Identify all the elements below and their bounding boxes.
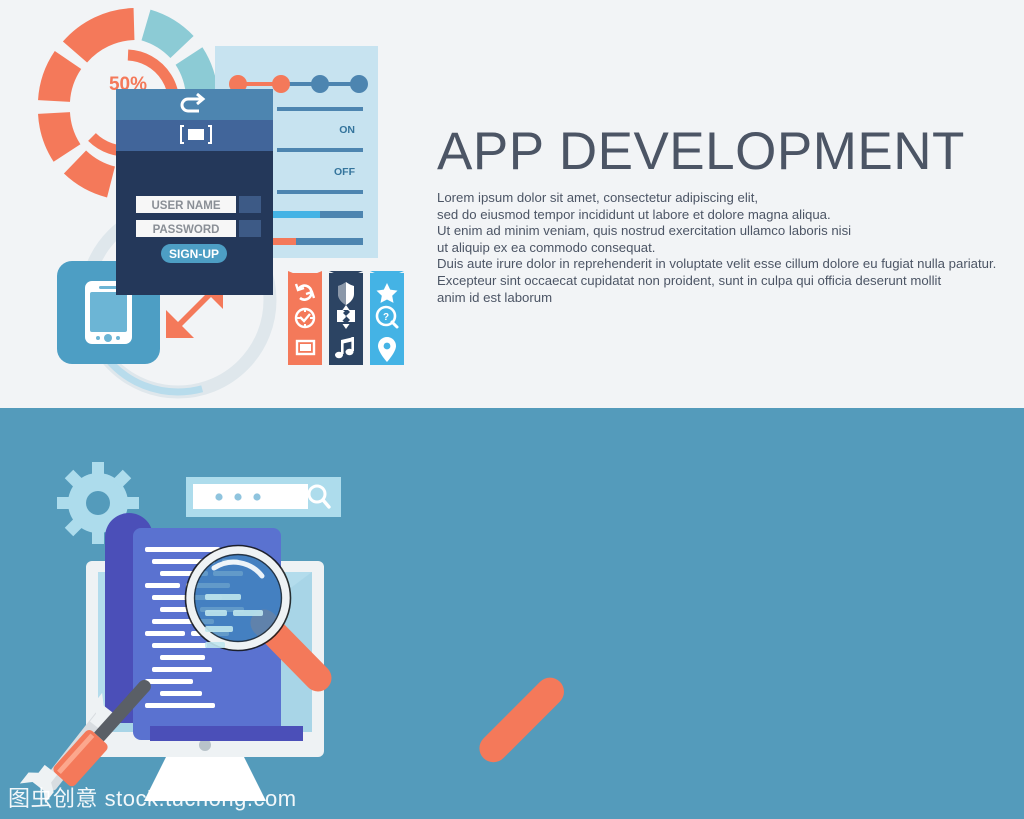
username-placeholder: USER NAME: [151, 200, 220, 212]
body-line: anim id est laborum: [437, 290, 1007, 307]
body-line: Lorem ipsum dolor sit amet, consectetur …: [437, 190, 1007, 207]
icon-strip-orange: [288, 271, 322, 365]
password-field[interactable]: PASSWORD: [136, 220, 261, 237]
progress-bar-1-fill: [271, 211, 320, 218]
magnifier-handle: [474, 672, 570, 768]
body-line: Ut enim ad minim veniam, quis nostrud ex…: [437, 223, 1007, 240]
icon-strip-blue: ?: [370, 271, 404, 365]
search-dot-2: [234, 493, 241, 500]
code-document-bottom-fold: [150, 726, 303, 741]
search-bar[interactable]: [186, 477, 341, 517]
app-development-body: Lorem ipsum dolor sit amet, consectetur …: [437, 190, 1007, 306]
section-app-development: 50% ON OFF: [0, 0, 1024, 408]
settings-row-divider-2: [277, 148, 363, 152]
search-input[interactable]: [193, 484, 308, 509]
signup-button[interactable]: SIGN-UP: [161, 244, 227, 263]
signup-button-label: SIGN-UP: [169, 247, 219, 261]
watermark: 图虫创意 stock.tuchong.com: [8, 781, 297, 813]
app-development-text: APP DEVELOPMENT Lorem ipsum dolor sit am…: [437, 125, 1007, 306]
settings-row-divider-1: [277, 107, 363, 111]
search-dot-1: [215, 493, 222, 500]
stepper-dot-2[interactable]: [272, 75, 290, 93]
poster-root: 50% ON OFF: [0, 0, 1024, 819]
settings-row-divider-3: [277, 190, 363, 194]
stepper-dot-4[interactable]: [350, 75, 368, 93]
page-title-app: APP DEVELOPMENT: [437, 125, 1007, 178]
password-placeholder: PASSWORD: [153, 224, 220, 236]
clock-check-icon[interactable]: [296, 309, 314, 327]
search-dot-3: [253, 493, 260, 500]
toggle-on-label: ON: [339, 124, 355, 136]
login-window: USER NAME PASSWORD SIGN-UP: [116, 89, 273, 295]
toggle-off-label: OFF: [334, 166, 356, 178]
login-window-titlebar: [116, 89, 273, 120]
section-code-optimization: CODE OPTIMIZATION Lorem ipsum dolor sit …: [0, 408, 1024, 819]
body-line: Duis aute irure dolor in reprehenderit i…: [437, 256, 1007, 273]
code-optimization-illustration: [0, 408, 420, 819]
body-line: ut aliquip ex ea commodo consequat.: [437, 240, 1007, 257]
stepper-dot-3[interactable]: [311, 75, 329, 93]
icon-strip-navy: [329, 271, 363, 365]
app-development-illustration: 50% ON OFF: [0, 0, 420, 408]
svg-text:?: ?: [383, 312, 389, 323]
username-field[interactable]: USER NAME: [136, 196, 261, 213]
body-line: sed do eiusmod tempor incididunt ut labo…: [437, 207, 1007, 224]
body-line: Excepteur sint occaecat cupidatat non pr…: [437, 273, 1007, 290]
